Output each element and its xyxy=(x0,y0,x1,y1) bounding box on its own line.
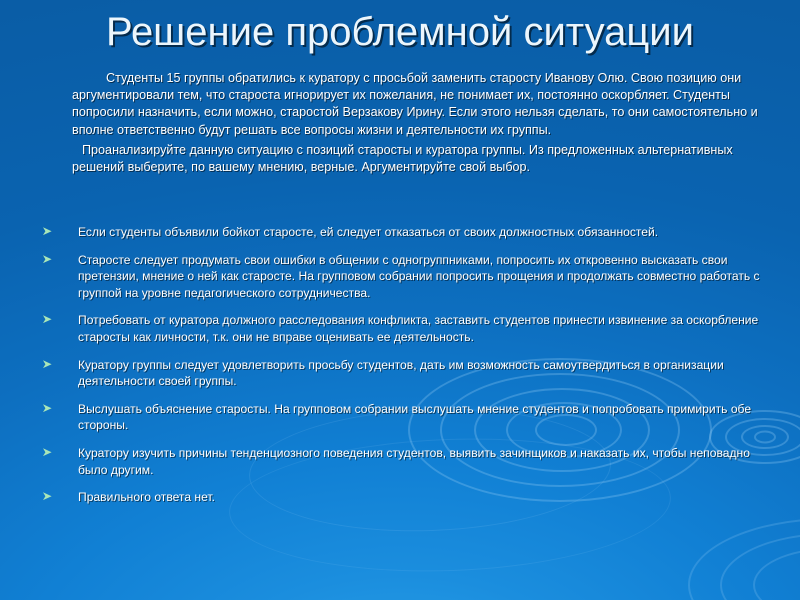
list-item-label: Если студенты объявили бойкот старосте, … xyxy=(78,224,792,241)
list-item: Куратору группы следует удовлетворить пр… xyxy=(22,357,792,390)
list-item: Выслушать объяснение старосты. На группо… xyxy=(22,401,792,434)
chevron-arrow-icon xyxy=(22,252,78,265)
list-item-label: Куратору изучить причины тенденциозного … xyxy=(78,445,792,478)
list-item-label: Потребовать от куратора должного расслед… xyxy=(78,312,792,345)
list-item: Правильного ответа нет. xyxy=(22,489,792,506)
intro-paragraph-2: Проанализируйте данную ситуацию с позици… xyxy=(72,142,784,176)
intro-paragraph-1: Студенты 15 группы обратились к куратору… xyxy=(72,70,784,139)
slide-content: Решение проблемной ситуации Студенты 15 … xyxy=(0,0,800,600)
list-item-label: Старосте следует продумать свои ошибки в… xyxy=(78,252,792,302)
list-item: Куратору изучить причины тенденциозного … xyxy=(22,445,792,478)
intro-text-block: Студенты 15 группы обратились к куратору… xyxy=(72,70,784,176)
list-item: Если студенты объявили бойкот старосте, … xyxy=(22,224,792,241)
chevron-arrow-icon xyxy=(22,489,78,502)
chevron-arrow-icon xyxy=(22,401,78,414)
chevron-arrow-icon xyxy=(22,224,78,237)
list-item-label: Куратору группы следует удовлетворить пр… xyxy=(78,357,792,390)
presentation-slide: Решение проблемной ситуации Студенты 15 … xyxy=(0,0,800,600)
list-item-label: Выслушать объяснение старосты. На группо… xyxy=(78,401,792,434)
list-item: Старосте следует продумать свои ошибки в… xyxy=(22,252,792,302)
chevron-arrow-icon xyxy=(22,445,78,458)
chevron-arrow-icon xyxy=(22,357,78,370)
list-item: Потребовать от куратора должного расслед… xyxy=(22,312,792,345)
slide-title: Решение проблемной ситуации xyxy=(0,8,800,56)
list-item-label: Правильного ответа нет. xyxy=(78,489,792,506)
bullet-list: Если студенты объявили бойкот старосте, … xyxy=(22,224,792,517)
chevron-arrow-icon xyxy=(22,312,78,325)
